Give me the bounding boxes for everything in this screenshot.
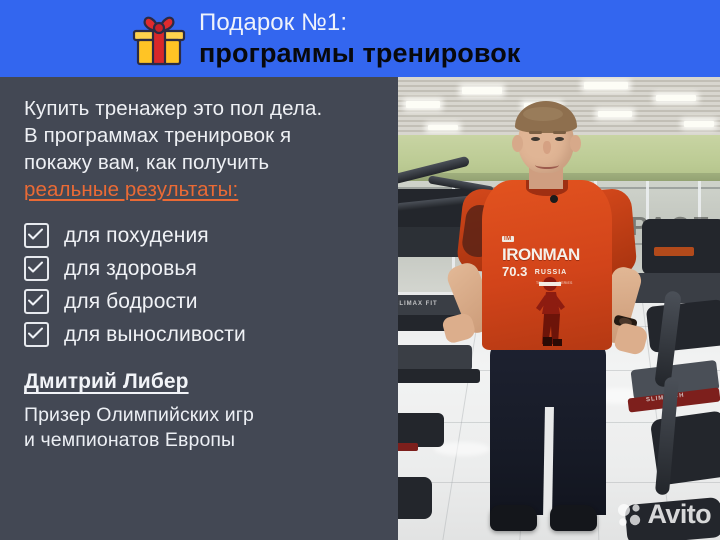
signature-block: Дмитрий Либер Призер Олимпийских игр и ч… (24, 370, 378, 453)
shoe-right (550, 505, 597, 531)
intro-line-1: Купить тренажер это пол дела. (24, 95, 378, 122)
eye-right (555, 137, 564, 141)
header-line-1: Подарок №1: (199, 11, 520, 35)
eyebrow-right (553, 131, 566, 134)
intro-highlight: реальные результаты: (24, 178, 238, 201)
content-panel: Купить тренажер это пол дела. В программ… (0, 77, 398, 540)
shoe-left (490, 505, 537, 531)
ear-left (512, 135, 523, 152)
shirt-brand-distance: 70.3 (502, 264, 527, 279)
intro-line-3: покажу вам, как получить (24, 149, 378, 176)
header-line-2: программы тренировок (199, 40, 520, 67)
author-role: Призер Олимпийских игр и чемпионатов Евр… (24, 403, 378, 453)
mouth (535, 161, 559, 169)
checkbox-checked-icon[interactable] (24, 322, 49, 347)
hand-right (613, 322, 649, 356)
checklist-item[interactable]: для выносливости (24, 322, 378, 347)
checklist-item[interactable]: для похудения (24, 223, 378, 248)
author-role-line-2: и чемпионатов Европы (24, 428, 378, 453)
checkbox-checked-icon[interactable] (24, 223, 49, 248)
checklist-item-label: для здоровья (64, 258, 197, 279)
gift-icon (131, 13, 187, 67)
nose (543, 141, 551, 154)
shirt-runner-graphic (526, 275, 572, 351)
eyebrow-left (529, 131, 542, 134)
person-photo: IM IRONMAN 70.3 RUSSIA TRIATHLON SERIES (398, 77, 720, 540)
benefits-checklist: для похудения для здоровья для бодрости … (24, 223, 378, 347)
shirt-logo: IM IRONMAN 70.3 RUSSIA TRIATHLON SERIES (502, 227, 594, 277)
author-role-line-1: Призер Олимпийских игр (24, 403, 378, 428)
ear-right (570, 135, 581, 152)
checklist-item-label: для бодрости (64, 291, 198, 312)
intro-paragraph: Купить тренажер это пол дела. В программ… (24, 95, 378, 203)
hair (515, 101, 577, 133)
promo-banner: SPACE LASER CLIMAX FIT (0, 0, 720, 540)
checkbox-checked-icon[interactable] (24, 289, 49, 314)
shirt-brand-small: IM (502, 236, 514, 242)
author-name: Дмитрий Либер (24, 370, 378, 394)
intro-line-2: В программах тренировок я (24, 122, 378, 149)
banner-header: Подарок №1: программы тренировок (0, 0, 720, 77)
eye-left (531, 137, 540, 141)
checklist-item-label: для похудения (64, 225, 209, 246)
checklist-item-label: для выносливости (64, 324, 246, 345)
lapel-microphone (550, 195, 558, 203)
leg-gap (543, 407, 554, 517)
checklist-item[interactable]: для здоровья (24, 256, 378, 281)
gym-photo: SPACE LASER CLIMAX FIT (398, 77, 720, 540)
shirt-brand-main: IRONMAN (502, 246, 594, 263)
checklist-item[interactable]: для бодрости (24, 289, 378, 314)
checkbox-checked-icon[interactable] (24, 256, 49, 281)
